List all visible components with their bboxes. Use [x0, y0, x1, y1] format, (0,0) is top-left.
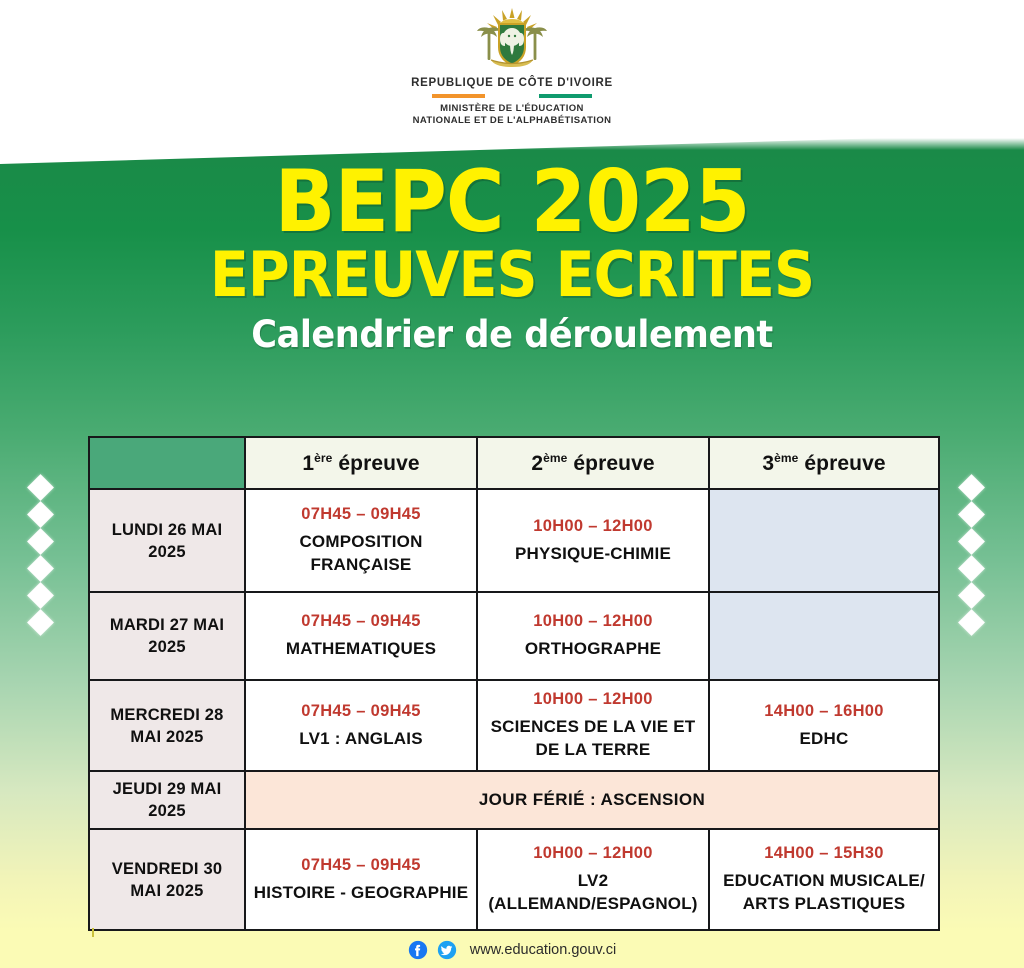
diamond-icon	[27, 609, 54, 636]
ministry-line-2: NATIONALE ET DE L'ALPHABÉTISATION	[413, 115, 612, 127]
exam-time: 14H00 – 15H30	[716, 844, 932, 863]
row-date-cell: VENDREDI 30 MAI 2025	[89, 829, 245, 930]
header-word: épreuve	[804, 452, 885, 475]
facebook-icon[interactable]	[408, 940, 428, 960]
table-row-holiday: JEUDI 29 MAI 2025 JOUR FÉRIÉ : ASCENSION	[89, 771, 939, 829]
table-row: VENDREDI 30 MAI 2025 07H45 – 09H45 HISTO…	[89, 829, 939, 930]
diamond-column-left	[31, 478, 50, 632]
poster-canvas: REPUBLIQUE DE CÔTE D'IVOIRE MINISTÈRE DE…	[0, 0, 1024, 968]
date-line-1: LUNDI 26 MAI	[112, 521, 223, 539]
diamond-icon	[958, 555, 985, 582]
holiday-cell: JOUR FÉRIÉ : ASCENSION	[245, 771, 939, 829]
column-header-epreuve-2: 2ème épreuve	[477, 437, 709, 489]
exam-time: 10H00 – 12H00	[484, 612, 702, 631]
ministry-line: MINISTÈRE DE L'ÉDUCATION NATIONALE ET DE…	[413, 103, 612, 127]
exam-time: 07H45 – 09H45	[252, 856, 470, 875]
exam-subject: LV1 : ANGLAIS	[252, 727, 470, 750]
diamond-icon	[27, 528, 54, 555]
header-num: 1	[302, 452, 314, 475]
header-num: 3	[762, 452, 774, 475]
ministry-line-1: MINISTÈRE DE L'ÉDUCATION	[413, 103, 612, 115]
diamond-icon	[958, 528, 985, 555]
exam-cell-3: 14H00 – 15H30 EDUCATION MUSICALE/ ARTS P…	[709, 829, 939, 930]
diamond-icon	[27, 555, 54, 582]
flag-green-stripe	[539, 94, 592, 98]
date-line-1: MARDI 27 MAI	[110, 616, 224, 634]
exam-subject: SCIENCES DE LA VIE ET DE LA TERRE	[484, 715, 702, 761]
diamond-icon	[958, 582, 985, 609]
table-header-row: 1ère épreuve 2ème épreuve 3ème épreuve	[89, 437, 939, 489]
exam-cell-1: 07H45 – 09H45 LV1 : ANGLAIS	[245, 680, 477, 771]
schedule-table-container: 1ère épreuve 2ème épreuve 3ème épreuve L…	[88, 436, 938, 931]
exam-time: 10H00 – 12H00	[484, 844, 702, 863]
diamond-icon	[27, 474, 54, 501]
flag-orange-stripe	[432, 94, 485, 98]
exam-subject: ORTHOGRAPHE	[484, 637, 702, 660]
row-date-cell: MARDI 27 MAI 2025	[89, 592, 245, 680]
date-line-2: MAI 2025	[130, 728, 203, 746]
table-corner-cell	[89, 437, 245, 489]
diamond-icon	[958, 501, 985, 528]
exam-cell-2: 10H00 – 12H00 PHYSIQUE-CHIMIE	[477, 489, 709, 592]
flag-white-stripe	[485, 94, 538, 98]
website-url[interactable]: www.education.gouv.ci	[470, 942, 616, 958]
header-word: épreuve	[573, 452, 654, 475]
diamond-column-right	[962, 478, 981, 632]
exam-time: 10H00 – 12H00	[484, 517, 702, 536]
footer-bar: www.education.gouv.ci	[0, 940, 1024, 960]
exam-subject: HISTOIRE - GEOGRAPHIE	[252, 881, 470, 904]
table-row: LUNDI 26 MAI 2025 07H45 – 09H45 COMPOSIT…	[89, 489, 939, 592]
exam-cell-3: 14H00 – 16H00 EDHC	[709, 680, 939, 771]
header-sup: ère	[314, 451, 332, 465]
header-sup: ème	[543, 451, 567, 465]
exam-cell-2: 10H00 – 12H00 ORTHOGRAPHE	[477, 592, 709, 680]
diamond-icon	[27, 582, 54, 609]
exam-subject: EDUCATION MUSICALE/ ARTS PLASTIQUES	[716, 869, 932, 915]
exam-cell-1: 07H45 – 09H45 MATHEMATIQUES	[245, 592, 477, 680]
date-line-1: MERCREDI 28	[110, 706, 223, 724]
twitter-icon[interactable]	[437, 940, 457, 960]
header-num: 2	[531, 452, 543, 475]
diamond-icon	[958, 609, 985, 636]
date-line-1: VENDREDI 30	[112, 860, 222, 878]
table-row: MERCREDI 28 MAI 2025 07H45 – 09H45 LV1 :…	[89, 680, 939, 771]
diamond-icon	[958, 474, 985, 501]
column-header-epreuve-3: 3ème épreuve	[709, 437, 939, 489]
diamond-icon	[27, 501, 54, 528]
exam-cell-2: 10H00 – 12H00 SCIENCES DE LA VIE ET DE L…	[477, 680, 709, 771]
date-line-2: 2025	[148, 543, 186, 561]
header-sup: ème	[774, 451, 798, 465]
exam-subject: MATHEMATIQUES	[252, 637, 470, 660]
date-line-2: 2025	[148, 802, 186, 820]
header-word: épreuve	[338, 452, 419, 475]
exam-time: 07H45 – 09H45	[252, 702, 470, 721]
republic-line: REPUBLIQUE DE CÔTE D'IVOIRE	[411, 77, 613, 89]
exam-cell-3-empty	[709, 592, 939, 680]
exam-time: 14H00 – 16H00	[716, 702, 932, 721]
exam-time: 07H45 – 09H45	[252, 505, 470, 524]
cote-divoire-coat-of-arms-icon	[475, 6, 549, 74]
exam-cell-1: 07H45 – 09H45 HISTOIRE - GEOGRAPHIE	[245, 829, 477, 930]
title-third: Calendrier de déroulement	[26, 312, 999, 358]
flag-tricolor-bar	[432, 94, 592, 98]
title-main: BEPC 2025	[36, 160, 988, 244]
date-line-2: MAI 2025	[130, 882, 203, 900]
title-block: BEPC 2025 EPREUVES ECRITES Calendrier de…	[0, 160, 1024, 358]
column-header-epreuve-1: 1ère épreuve	[245, 437, 477, 489]
ministry-header: REPUBLIQUE DE CÔTE D'IVOIRE MINISTÈRE DE…	[0, 0, 1024, 138]
exam-subject: LV2 (ALLEMAND/ESPAGNOL)	[484, 869, 702, 915]
date-line-1: JEUDI 29 MAI	[113, 780, 222, 798]
exam-subject: EDHC	[716, 727, 932, 750]
exam-cell-3-empty	[709, 489, 939, 592]
date-line-2: 2025	[148, 638, 186, 656]
row-date-cell: JEUDI 29 MAI 2025	[89, 771, 245, 829]
exam-subject: PHYSIQUE-CHIMIE	[484, 542, 702, 565]
exam-subject: COMPOSITION FRANÇAISE	[252, 530, 470, 576]
title-sub: EPREUVES ECRITES	[41, 244, 983, 306]
schedule-table: 1ère épreuve 2ème épreuve 3ème épreuve L…	[88, 436, 940, 931]
table-row: MARDI 27 MAI 2025 07H45 – 09H45 MATHEMAT…	[89, 592, 939, 680]
stray-mark	[92, 928, 94, 937]
row-date-cell: MERCREDI 28 MAI 2025	[89, 680, 245, 771]
exam-time: 10H00 – 12H00	[484, 690, 702, 709]
exam-time: 07H45 – 09H45	[252, 612, 470, 631]
exam-cell-1: 07H45 – 09H45 COMPOSITION FRANÇAISE	[245, 489, 477, 592]
row-date-cell: LUNDI 26 MAI 2025	[89, 489, 245, 592]
exam-cell-2: 10H00 – 12H00 LV2 (ALLEMAND/ESPAGNOL)	[477, 829, 709, 930]
